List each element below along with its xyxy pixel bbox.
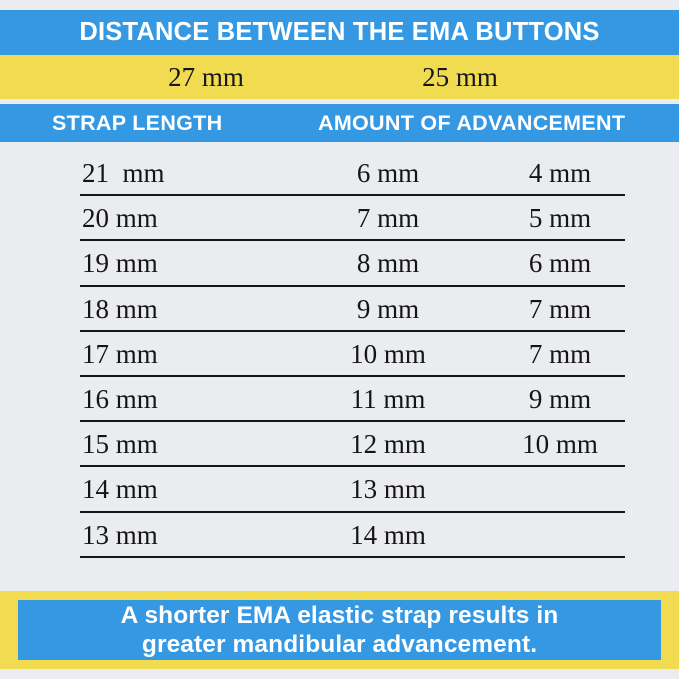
footer-callout: A shorter EMA elastic strap results in g… bbox=[18, 600, 661, 660]
button-distance-band: 27 mm 25 mm bbox=[0, 55, 679, 99]
column-header-strap-length: STRAP LENGTH bbox=[52, 104, 292, 142]
cell-strap-length: 21 mm bbox=[82, 151, 292, 196]
cell-adv-25mm: 5 mm bbox=[476, 196, 644, 241]
cell-adv-27mm: 13 mm bbox=[300, 467, 476, 512]
ema-strap-length-chart: DISTANCE BETWEEN THE EMA BUTTONS 27 mm 2… bbox=[0, 0, 679, 679]
cell-strap-length: 17 mm bbox=[82, 332, 292, 377]
title-band: DISTANCE BETWEEN THE EMA BUTTONS bbox=[0, 10, 679, 55]
data-table: 21 mm 6 mm 4 mm 20 mm 7 mm 5 mm 19 mm 8 … bbox=[0, 151, 679, 558]
cell-adv-27mm: 14 mm bbox=[300, 513, 476, 558]
button-distance-25mm-label: 25 mm bbox=[374, 55, 546, 99]
table-row: 21 mm 6 mm 4 mm bbox=[0, 151, 679, 196]
cell-adv-25mm bbox=[476, 513, 644, 558]
table-row: 17 mm 10 mm 7 mm bbox=[0, 332, 679, 377]
column-header-amount-of-advancement: AMOUNT OF ADVANCEMENT bbox=[318, 104, 675, 142]
table-row: 13 mm 14 mm bbox=[0, 513, 679, 558]
cell-strap-length: 15 mm bbox=[82, 422, 292, 467]
cell-strap-length: 13 mm bbox=[82, 513, 292, 558]
table-row: 15 mm 12 mm 10 mm bbox=[0, 422, 679, 467]
cell-strap-length: 14 mm bbox=[82, 467, 292, 512]
cell-adv-25mm: 4 mm bbox=[476, 151, 644, 196]
table-row: 18 mm 9 mm 7 mm bbox=[0, 287, 679, 332]
cell-adv-25mm: 7 mm bbox=[476, 332, 644, 377]
cell-adv-27mm: 7 mm bbox=[300, 196, 476, 241]
cell-adv-25mm: 7 mm bbox=[476, 287, 644, 332]
cell-strap-length: 18 mm bbox=[82, 287, 292, 332]
cell-strap-length: 16 mm bbox=[82, 377, 292, 422]
cell-adv-25mm: 9 mm bbox=[476, 377, 644, 422]
cell-adv-25mm: 10 mm bbox=[476, 422, 644, 467]
cell-adv-27mm: 6 mm bbox=[300, 151, 476, 196]
cell-adv-27mm: 11 mm bbox=[300, 377, 476, 422]
cell-adv-27mm: 10 mm bbox=[300, 332, 476, 377]
row-divider bbox=[80, 556, 625, 558]
footer-text-line-1: A shorter EMA elastic strap results in bbox=[121, 601, 559, 630]
table-row: 19 mm 8 mm 6 mm bbox=[0, 241, 679, 286]
cell-adv-25mm: 6 mm bbox=[476, 241, 644, 286]
table-row: 16 mm 11 mm 9 mm bbox=[0, 377, 679, 422]
footer-text-line-2: greater mandibular advancement. bbox=[142, 630, 537, 659]
footer-callout-border: A shorter EMA elastic strap results in g… bbox=[0, 591, 679, 669]
table-row: 20 mm 7 mm 5 mm bbox=[0, 196, 679, 241]
cell-adv-25mm bbox=[476, 467, 644, 512]
table-row: 14 mm 13 mm bbox=[0, 467, 679, 512]
cell-strap-length: 19 mm bbox=[82, 241, 292, 286]
page-title: DISTANCE BETWEEN THE EMA BUTTONS bbox=[79, 18, 599, 47]
button-distance-27mm-label: 27 mm bbox=[120, 55, 292, 99]
cell-adv-27mm: 12 mm bbox=[300, 422, 476, 467]
cell-strap-length: 20 mm bbox=[82, 196, 292, 241]
cell-adv-27mm: 8 mm bbox=[300, 241, 476, 286]
column-header-band: STRAP LENGTH AMOUNT OF ADVANCEMENT bbox=[0, 104, 679, 142]
cell-adv-27mm: 9 mm bbox=[300, 287, 476, 332]
